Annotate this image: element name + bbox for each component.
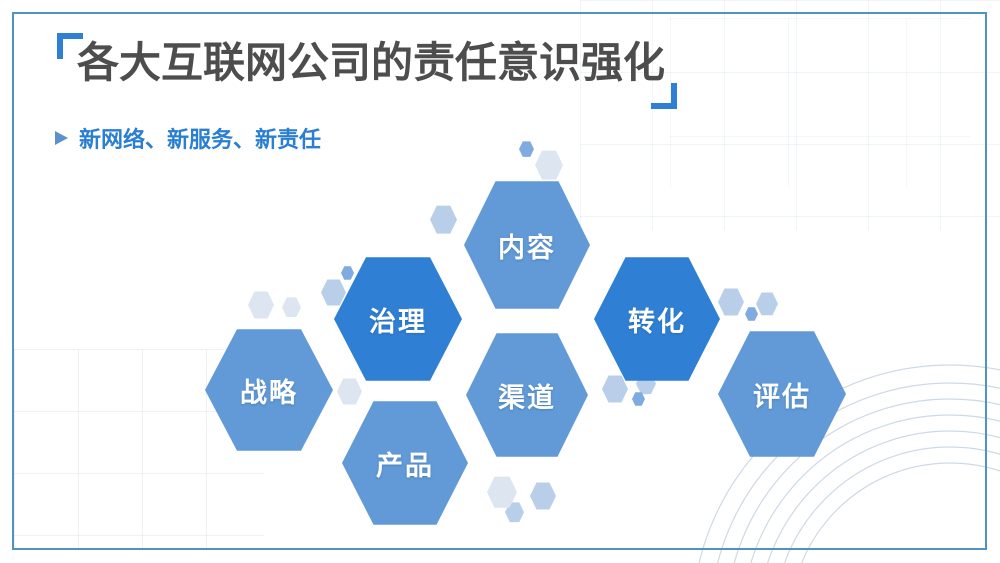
decorative-hexagon bbox=[756, 292, 778, 316]
hexagon-node-channel[interactable]: 渠道 bbox=[466, 332, 588, 458]
hexagon-node-governance[interactable]: 治理 bbox=[334, 256, 462, 382]
decorative-hexagon bbox=[321, 279, 346, 306]
subtitle-text: 新网络、新服务、新责任 bbox=[79, 122, 321, 154]
triangle-right-icon bbox=[55, 131, 68, 145]
hexagon-node-conversion[interactable]: 转化 bbox=[594, 256, 720, 382]
decorative-hexagon bbox=[519, 141, 534, 157]
hexagon-label: 评估 bbox=[753, 375, 811, 414]
decorative-hexagon bbox=[745, 307, 758, 321]
hexagon-label: 转化 bbox=[628, 300, 686, 339]
decorative-hexagon bbox=[430, 205, 457, 234]
hexagon-label: 渠道 bbox=[498, 376, 556, 415]
hexagon-node-product[interactable]: 产品 bbox=[342, 400, 468, 526]
hexagon-label: 内容 bbox=[498, 226, 556, 265]
decorative-hexagon bbox=[718, 288, 744, 316]
page-title: 各大互联网公司的责任意识强化 bbox=[77, 35, 665, 91]
hexagon-node-evaluation[interactable]: 评估 bbox=[718, 330, 846, 458]
hexagon-label: 治理 bbox=[369, 300, 427, 339]
decorative-hexagon bbox=[602, 375, 628, 403]
decorative-hexagon bbox=[530, 482, 556, 510]
hexagon-node-strategy[interactable]: 战略 bbox=[205, 328, 333, 452]
decorative-hexagon bbox=[248, 291, 274, 319]
hexagon-node-content[interactable]: 内容 bbox=[464, 180, 590, 310]
slide-canvas: 各大互联网公司的责任意识强化 新网络、新服务、新责任 战略治理内容产品渠道转化评… bbox=[0, 0, 1000, 563]
hexagon-label: 产品 bbox=[376, 444, 434, 483]
background-grid-top-right-2 bbox=[670, 18, 970, 188]
hexagon-label: 战略 bbox=[240, 371, 298, 410]
decorative-hexagon bbox=[341, 266, 354, 280]
decorative-hexagon bbox=[535, 150, 563, 180]
subtitle-block: 新网络、新服务、新责任 bbox=[55, 122, 321, 154]
decorative-hexagon bbox=[337, 378, 362, 405]
title-block: 各大互联网公司的责任意识强化 bbox=[57, 33, 677, 103]
decorative-hexagon bbox=[282, 297, 301, 318]
